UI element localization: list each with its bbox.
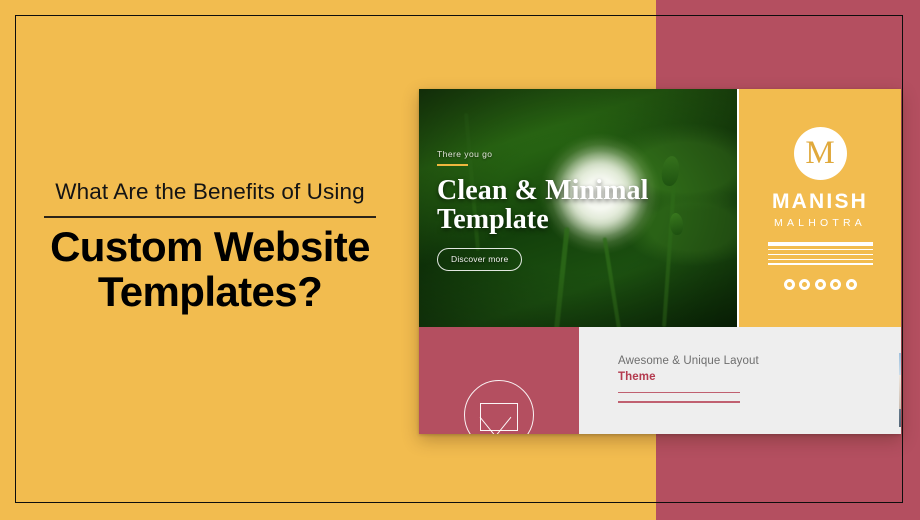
brand-bar-thin (768, 254, 873, 255)
brand-dot (846, 279, 857, 290)
info-text-plain: Awesome & Unique Layout (618, 355, 759, 367)
thumb-building-left (899, 375, 901, 409)
brand-bar-thick (768, 242, 873, 246)
discover-more-button[interactable]: Discover more (437, 248, 522, 271)
brand-bar-group (768, 242, 873, 265)
monogram-letter: M (805, 137, 834, 170)
brand-dot (799, 279, 810, 290)
template-preview-card[interactable]: There you go Clean & Minimal Template Di… (419, 89, 901, 434)
hero-eyebrow-underline (437, 164, 468, 166)
brand-logo-circle: M (794, 127, 847, 180)
poster-canvas: What Are the Benefits of Using Custom We… (0, 0, 920, 520)
headline-block: What Are the Benefits of Using Custom We… (0, 178, 420, 314)
placeholder-line (618, 401, 740, 402)
brand-bar-thin (768, 249, 873, 250)
page-title: Custom Website Templates? (0, 224, 420, 315)
brand-dot (784, 279, 795, 290)
thumbnail-image (899, 353, 901, 427)
brand-panel: M MANISH MALHOTRA (739, 89, 901, 327)
info-placeholder-lines (618, 392, 740, 411)
placeholder-line (618, 392, 740, 393)
brand-dot-group (739, 279, 901, 290)
brand-dot (830, 279, 841, 290)
template-hero-section: There you go Clean & Minimal Template Di… (419, 89, 737, 327)
info-card: Awesome & Unique Layout Theme (579, 327, 901, 434)
hero-title-line1: Clean & Minimal (437, 175, 649, 206)
info-text: Awesome & Unique Layout Theme (618, 354, 763, 385)
page-title-line1: Custom Website (50, 223, 370, 270)
brand-bar-thin (768, 263, 873, 264)
hero-title-line2: Template (437, 206, 727, 235)
page-title-line2: Templates? (0, 269, 420, 314)
info-text-accent: Theme (618, 371, 656, 383)
headline-kicker: What Are the Benefits of Using (0, 178, 420, 206)
hero-title: Clean & Minimal Template (437, 177, 727, 235)
hero-eyebrow: There you go (437, 149, 727, 159)
brand-surname: MALHOTRA (739, 217, 901, 229)
brand-bar-thin (768, 259, 873, 260)
mail-card (419, 327, 579, 434)
headline-divider (44, 216, 376, 218)
hero-text-group: There you go Clean & Minimal Template Di… (437, 149, 727, 271)
info-text-block: Awesome & Unique Layout Theme (618, 354, 763, 385)
brand-dot (815, 279, 826, 290)
template-bottom-strip: Awesome & Unique Layout Theme (419, 327, 901, 434)
envelope-icon (480, 403, 518, 431)
brand-name: MANISH (739, 190, 901, 214)
